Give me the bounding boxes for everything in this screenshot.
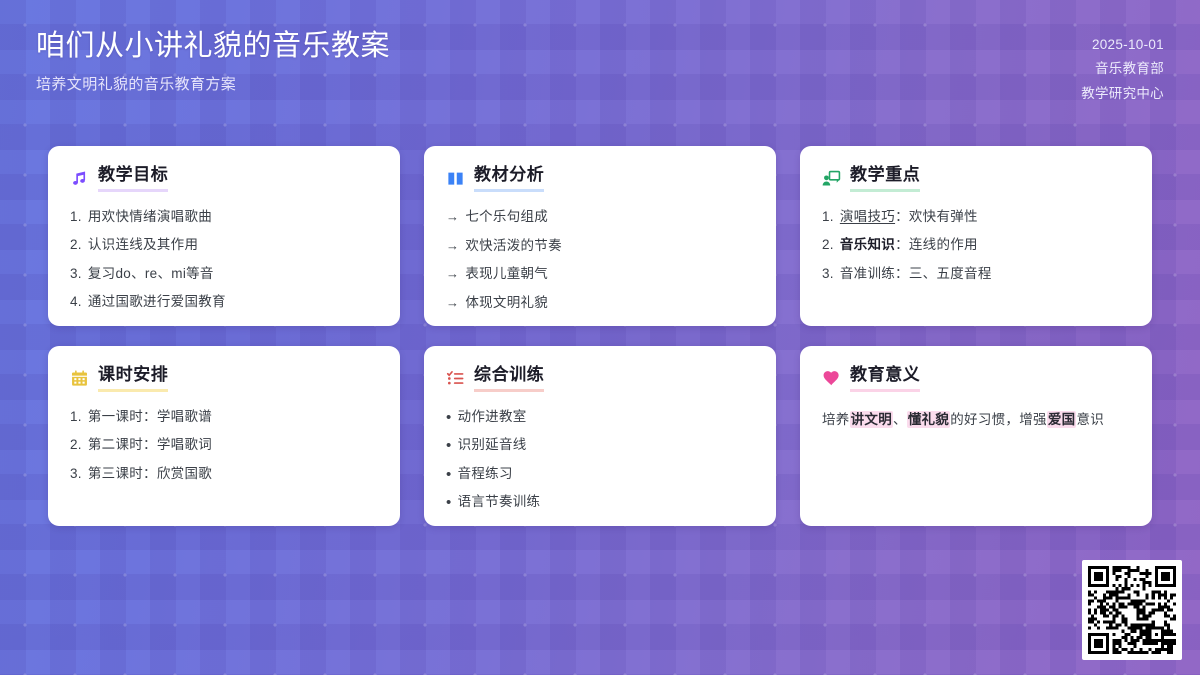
card-list: 1.用欢快情绪演唱歌曲2.认识连线及其作用3.复习do、re、mi等音4.通过国… <box>70 207 378 312</box>
list-marker: → <box>446 208 459 227</box>
list-item: 2.认识连线及其作用 <box>70 235 378 255</box>
card-educational-meaning: 教育意义培养讲文明、懂礼貌的好习惯，增强爱国意识 <box>800 346 1152 526</box>
list-item-text: 演唱技巧：欢快有弹性 <box>840 207 1130 227</box>
card-paragraph: 培养讲文明、懂礼貌的好习惯，增强爱国意识 <box>822 407 1130 433</box>
list-item: 4.通过国歌进行爱国教育 <box>70 292 378 312</box>
list-item-text: 第二课时：学唱歌词 <box>88 435 378 455</box>
list-item-text: 通过国歌进行爱国教育 <box>88 292 378 312</box>
list-marker: • <box>446 438 452 453</box>
card-title: 教育意义 <box>850 366 920 392</box>
paragraph-text: 增强 <box>1019 412 1047 427</box>
list-item: •语言节奏训练 <box>446 492 754 512</box>
list-marker: → <box>446 237 459 256</box>
list-item-rest: ：欢快有弹性 <box>895 209 978 224</box>
list-item-text: 欢快活泼的节奏 <box>465 236 754 256</box>
list-item-text: 第一课时：学唱歌谱 <box>88 407 378 427</box>
card-grid: 教学目标1.用欢快情绪演唱歌曲2.认识连线及其作用3.复习do、re、mi等音4… <box>48 146 1152 526</box>
list-item: →表现儿童朝气 <box>446 264 754 284</box>
paragraph-text: 培养 <box>822 412 850 427</box>
list-item-rest: ：连线的作用 <box>895 237 978 252</box>
list-marker: → <box>446 265 459 284</box>
qr-code-image <box>1088 566 1176 654</box>
list-item-text: 语言节奏训练 <box>458 492 754 512</box>
header-date: 2025-10-01 <box>1092 37 1164 52</box>
card-teaching-goals: 教学目标1.用欢快情绪演唱歌曲2.认识连线及其作用3.复习do、re、mi等音4… <box>48 146 400 326</box>
paragraph-text: 意识 <box>1076 412 1104 427</box>
card-lesson-schedule: 课时安排1.第一课时：学唱歌谱2.第二课时：学唱歌词3.第三课时：欣赏国歌 <box>48 346 400 526</box>
list-item-text: 复习do、re、mi等音 <box>88 264 378 284</box>
paragraph-text: 、 <box>893 412 907 427</box>
card-title: 教材分析 <box>474 166 544 192</box>
music-note-icon <box>70 169 89 188</box>
paragraph-text: 的好习惯， <box>950 412 1019 427</box>
list-item-text: 识别延音线 <box>458 435 754 455</box>
list-item-text: 音程练习 <box>458 464 754 484</box>
list-marker: 4. <box>70 292 82 312</box>
list-item: →七个乐句组成 <box>446 207 754 227</box>
card-header: 教学目标 <box>70 166 378 192</box>
list-item-text: 表现儿童朝气 <box>465 264 754 284</box>
card-list: 1.第一课时：学唱歌谱2.第二课时：学唱歌词3.第三课时：欣赏国歌 <box>70 407 378 484</box>
list-item: →体现文明礼貌 <box>446 293 754 313</box>
list-marker: 2. <box>822 235 834 255</box>
slide-header: 咱们从小讲礼貌的音乐教案 培养文明礼貌的音乐教育方案 2025-10-01 音乐… <box>0 0 1200 130</box>
list-item: 2.第二课时：学唱歌词 <box>70 435 378 455</box>
list-item-text: 用欢快情绪演唱歌曲 <box>88 207 378 227</box>
card-header: 教学重点 <box>822 166 1130 192</box>
list-item: 2.音乐知识：连线的作用 <box>822 235 1130 255</box>
list-item: 1.第一课时：学唱歌谱 <box>70 407 378 427</box>
list-item-lead: 演唱技巧 <box>840 209 895 224</box>
qr-code[interactable] <box>1082 560 1182 660</box>
card-title: 综合训练 <box>474 366 544 392</box>
highlighted-phrase: 爱国 <box>1047 411 1077 428</box>
header-left: 咱们从小讲礼貌的音乐教案 培养文明礼貌的音乐教育方案 <box>36 28 390 94</box>
card-header: 教材分析 <box>446 166 754 192</box>
list-marker: 3. <box>70 264 82 284</box>
list-marker: 1. <box>822 207 834 227</box>
checklist-icon <box>446 369 465 388</box>
list-item-text: 动作进教室 <box>458 407 754 427</box>
list-marker: 3. <box>70 464 82 484</box>
list-item-lead: 音乐知识 <box>840 237 895 252</box>
highlighted-phrase: 懂礼貌 <box>907 411 950 428</box>
header-meta: 2025-10-01 音乐教育部 教学研究中心 <box>1081 28 1164 102</box>
list-marker: • <box>446 495 452 510</box>
open-book-icon <box>446 169 465 188</box>
page-title: 咱们从小讲礼貌的音乐教案 <box>36 28 390 64</box>
card-list: •动作进教室•识别延音线•音程练习•语言节奏训练 <box>446 407 754 512</box>
list-marker: → <box>446 294 459 313</box>
list-item-text: 认识连线及其作用 <box>88 235 378 255</box>
list-marker: 3. <box>822 264 834 284</box>
card-teaching-focus: 教学重点1.演唱技巧：欢快有弹性2.音乐知识：连线的作用3.音准训练：三、五度音… <box>800 146 1152 326</box>
calendar-icon <box>70 369 89 388</box>
card-title: 课时安排 <box>98 366 168 392</box>
list-item: 1.用欢快情绪演唱歌曲 <box>70 207 378 227</box>
card-comprehensive-training: 综合训练•动作进教室•识别延音线•音程练习•语言节奏训练 <box>424 346 776 526</box>
card-title: 教学目标 <box>98 166 168 192</box>
header-department: 音乐教育部 <box>1095 57 1164 77</box>
list-item: 1.演唱技巧：欢快有弹性 <box>822 207 1130 227</box>
heart-icon <box>822 369 841 388</box>
list-item-text: 第三课时：欣赏国歌 <box>88 464 378 484</box>
list-marker: 2. <box>70 435 82 455</box>
card-list: →七个乐句组成→欢快活泼的节奏→表现儿童朝气→体现文明礼貌 <box>446 207 754 313</box>
card-list: 1.演唱技巧：欢快有弹性2.音乐知识：连线的作用3.音准训练：三、五度音程 <box>822 207 1130 284</box>
slide-canvas: 咱们从小讲礼貌的音乐教案 培养文明礼貌的音乐教育方案 2025-10-01 音乐… <box>0 0 1200 675</box>
list-item: •识别延音线 <box>446 435 754 455</box>
card-title: 教学重点 <box>850 166 920 192</box>
highlighted-phrase: 讲文明 <box>850 411 893 428</box>
list-item: →欢快活泼的节奏 <box>446 236 754 256</box>
card-header: 教育意义 <box>822 366 1130 392</box>
list-item: •动作进教室 <box>446 407 754 427</box>
teacher-board-icon <box>822 169 841 188</box>
card-header: 课时安排 <box>70 366 378 392</box>
list-marker: • <box>446 467 452 482</box>
header-center: 教学研究中心 <box>1081 82 1164 102</box>
card-material-analysis: 教材分析→七个乐句组成→欢快活泼的节奏→表现儿童朝气→体现文明礼貌 <box>424 146 776 326</box>
list-item: 3.第三课时：欣赏国歌 <box>70 464 378 484</box>
list-marker: 2. <box>70 235 82 255</box>
list-marker: 1. <box>70 407 82 427</box>
list-item-text: 音准训练：三、五度音程 <box>840 264 1130 284</box>
list-item-text: 体现文明礼貌 <box>465 293 754 313</box>
list-item-text: 音乐知识：连线的作用 <box>840 235 1130 255</box>
list-marker: • <box>446 410 452 425</box>
card-header: 综合训练 <box>446 366 754 392</box>
page-subtitle: 培养文明礼貌的音乐教育方案 <box>36 73 390 94</box>
list-item: 3.音准训练：三、五度音程 <box>822 264 1130 284</box>
list-item-text: 七个乐句组成 <box>465 207 754 227</box>
list-item: 3.复习do、re、mi等音 <box>70 264 378 284</box>
list-marker: 1. <box>70 207 82 227</box>
list-item: •音程练习 <box>446 464 754 484</box>
